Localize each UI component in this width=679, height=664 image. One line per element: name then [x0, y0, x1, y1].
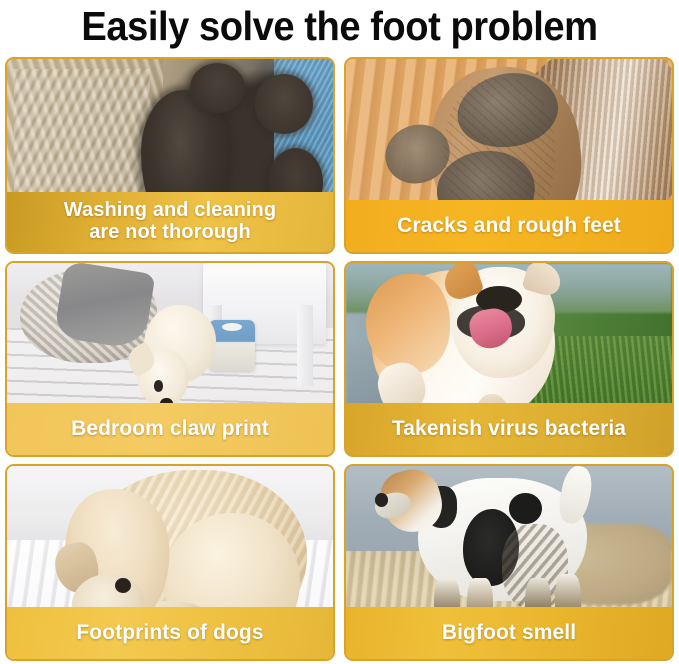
problem-card-bedroom-claw-print[interactable]: Bedroom claw print: [5, 261, 335, 458]
paw-toe-pad-1: [190, 63, 245, 113]
problem-card-washing-and-cleaning[interactable]: Washing and cleaning are not thorough: [5, 57, 335, 254]
problem-card-cracks-and-rough-feet[interactable]: Cracks and rough feet: [344, 57, 674, 254]
card-caption-takenish-virus-bacteria: Takenish virus bacteria: [346, 403, 672, 455]
table-leg-right: [297, 305, 313, 386]
terrier-black-spot-2: [509, 493, 542, 524]
caption-line-1: Washing and cleaning: [64, 199, 276, 221]
card-caption-washing-and-cleaning: Washing and cleaning are not thorough: [7, 192, 333, 252]
paw-toe-pad-2: [255, 74, 314, 134]
puppy-eye: [154, 380, 164, 392]
caption-line-2: are not thorough: [89, 221, 251, 243]
corgi-rump: [366, 274, 451, 374]
infographic-root: Easily solve the foot problem Washing an…: [0, 0, 679, 664]
problem-card-footprints-of-dogs[interactable]: Footprints of dogs: [5, 464, 335, 661]
problem-card-takenish-virus-bacteria[interactable]: Takenish virus bacteria: [344, 261, 674, 458]
problem-card-bigfoot-smell[interactable]: Bigfoot smell: [344, 464, 674, 661]
blue-water-dispenser: [209, 320, 255, 370]
problem-card-grid: Washing and cleaning are not thorough Cr…: [5, 57, 674, 661]
card-caption-bigfoot-smell: Bigfoot smell: [346, 607, 672, 659]
page-title: Easily solve the foot problem: [24, 0, 655, 52]
card-caption-cracks-and-rough-feet: Cracks and rough feet: [346, 200, 672, 252]
card-caption-bedroom-claw-print: Bedroom claw print: [7, 403, 333, 455]
card-caption-footprints-of-dogs: Footprints of dogs: [7, 607, 333, 659]
